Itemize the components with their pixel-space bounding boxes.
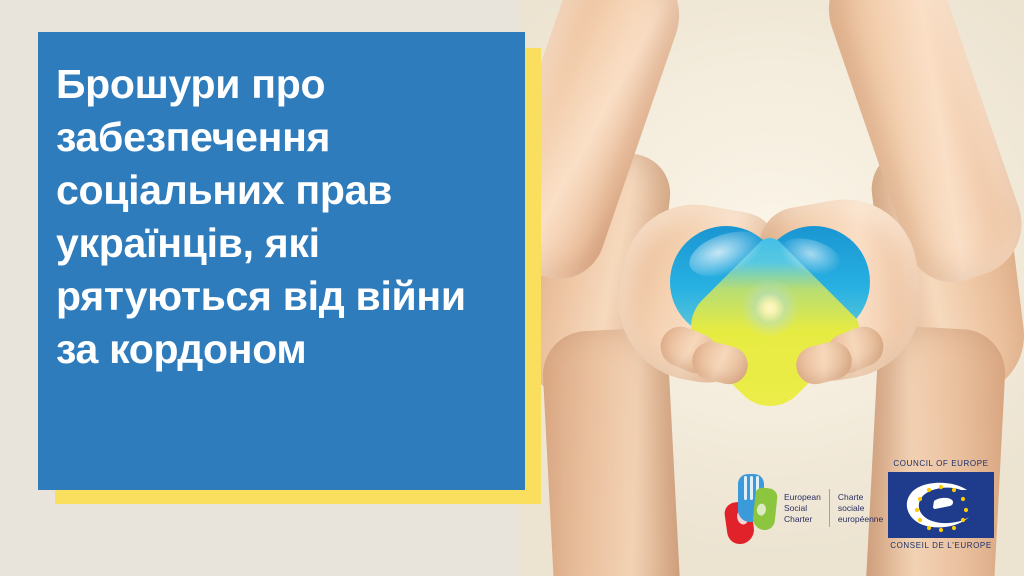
coe-twelve-stars-icon	[888, 472, 994, 538]
hand-green-thumb	[756, 503, 766, 516]
european-social-charter-logo[interactable]: European Social Charter Charte sociale e…	[726, 470, 878, 546]
three-hands-icon	[726, 472, 776, 544]
council-of-europe-logo[interactable]: COUNCIL OF EUROPE	[888, 458, 994, 552]
esc-logo-text: European Social Charter Charte sociale e…	[784, 489, 883, 527]
esc-name-english: European Social Charter	[784, 492, 821, 525]
heart-lens-flare	[742, 280, 798, 336]
hand-blue-slit-1	[744, 476, 747, 500]
coe-flag-emblem	[888, 472, 994, 538]
esc-text-divider	[829, 489, 830, 527]
esc-name-french: Charte sociale européenne	[838, 492, 883, 525]
promo-banner: Брошури про забезпечення соціальних прав…	[0, 0, 1024, 576]
page-title: Брошури про забезпечення соціальних прав…	[56, 58, 512, 376]
coe-label-french: CONSEIL DE L'EUROPE	[888, 540, 994, 552]
hand-blue-slit-2	[750, 476, 753, 500]
coe-label-english: COUNCIL OF EUROPE	[888, 458, 994, 470]
hand-green-icon	[752, 487, 778, 531]
